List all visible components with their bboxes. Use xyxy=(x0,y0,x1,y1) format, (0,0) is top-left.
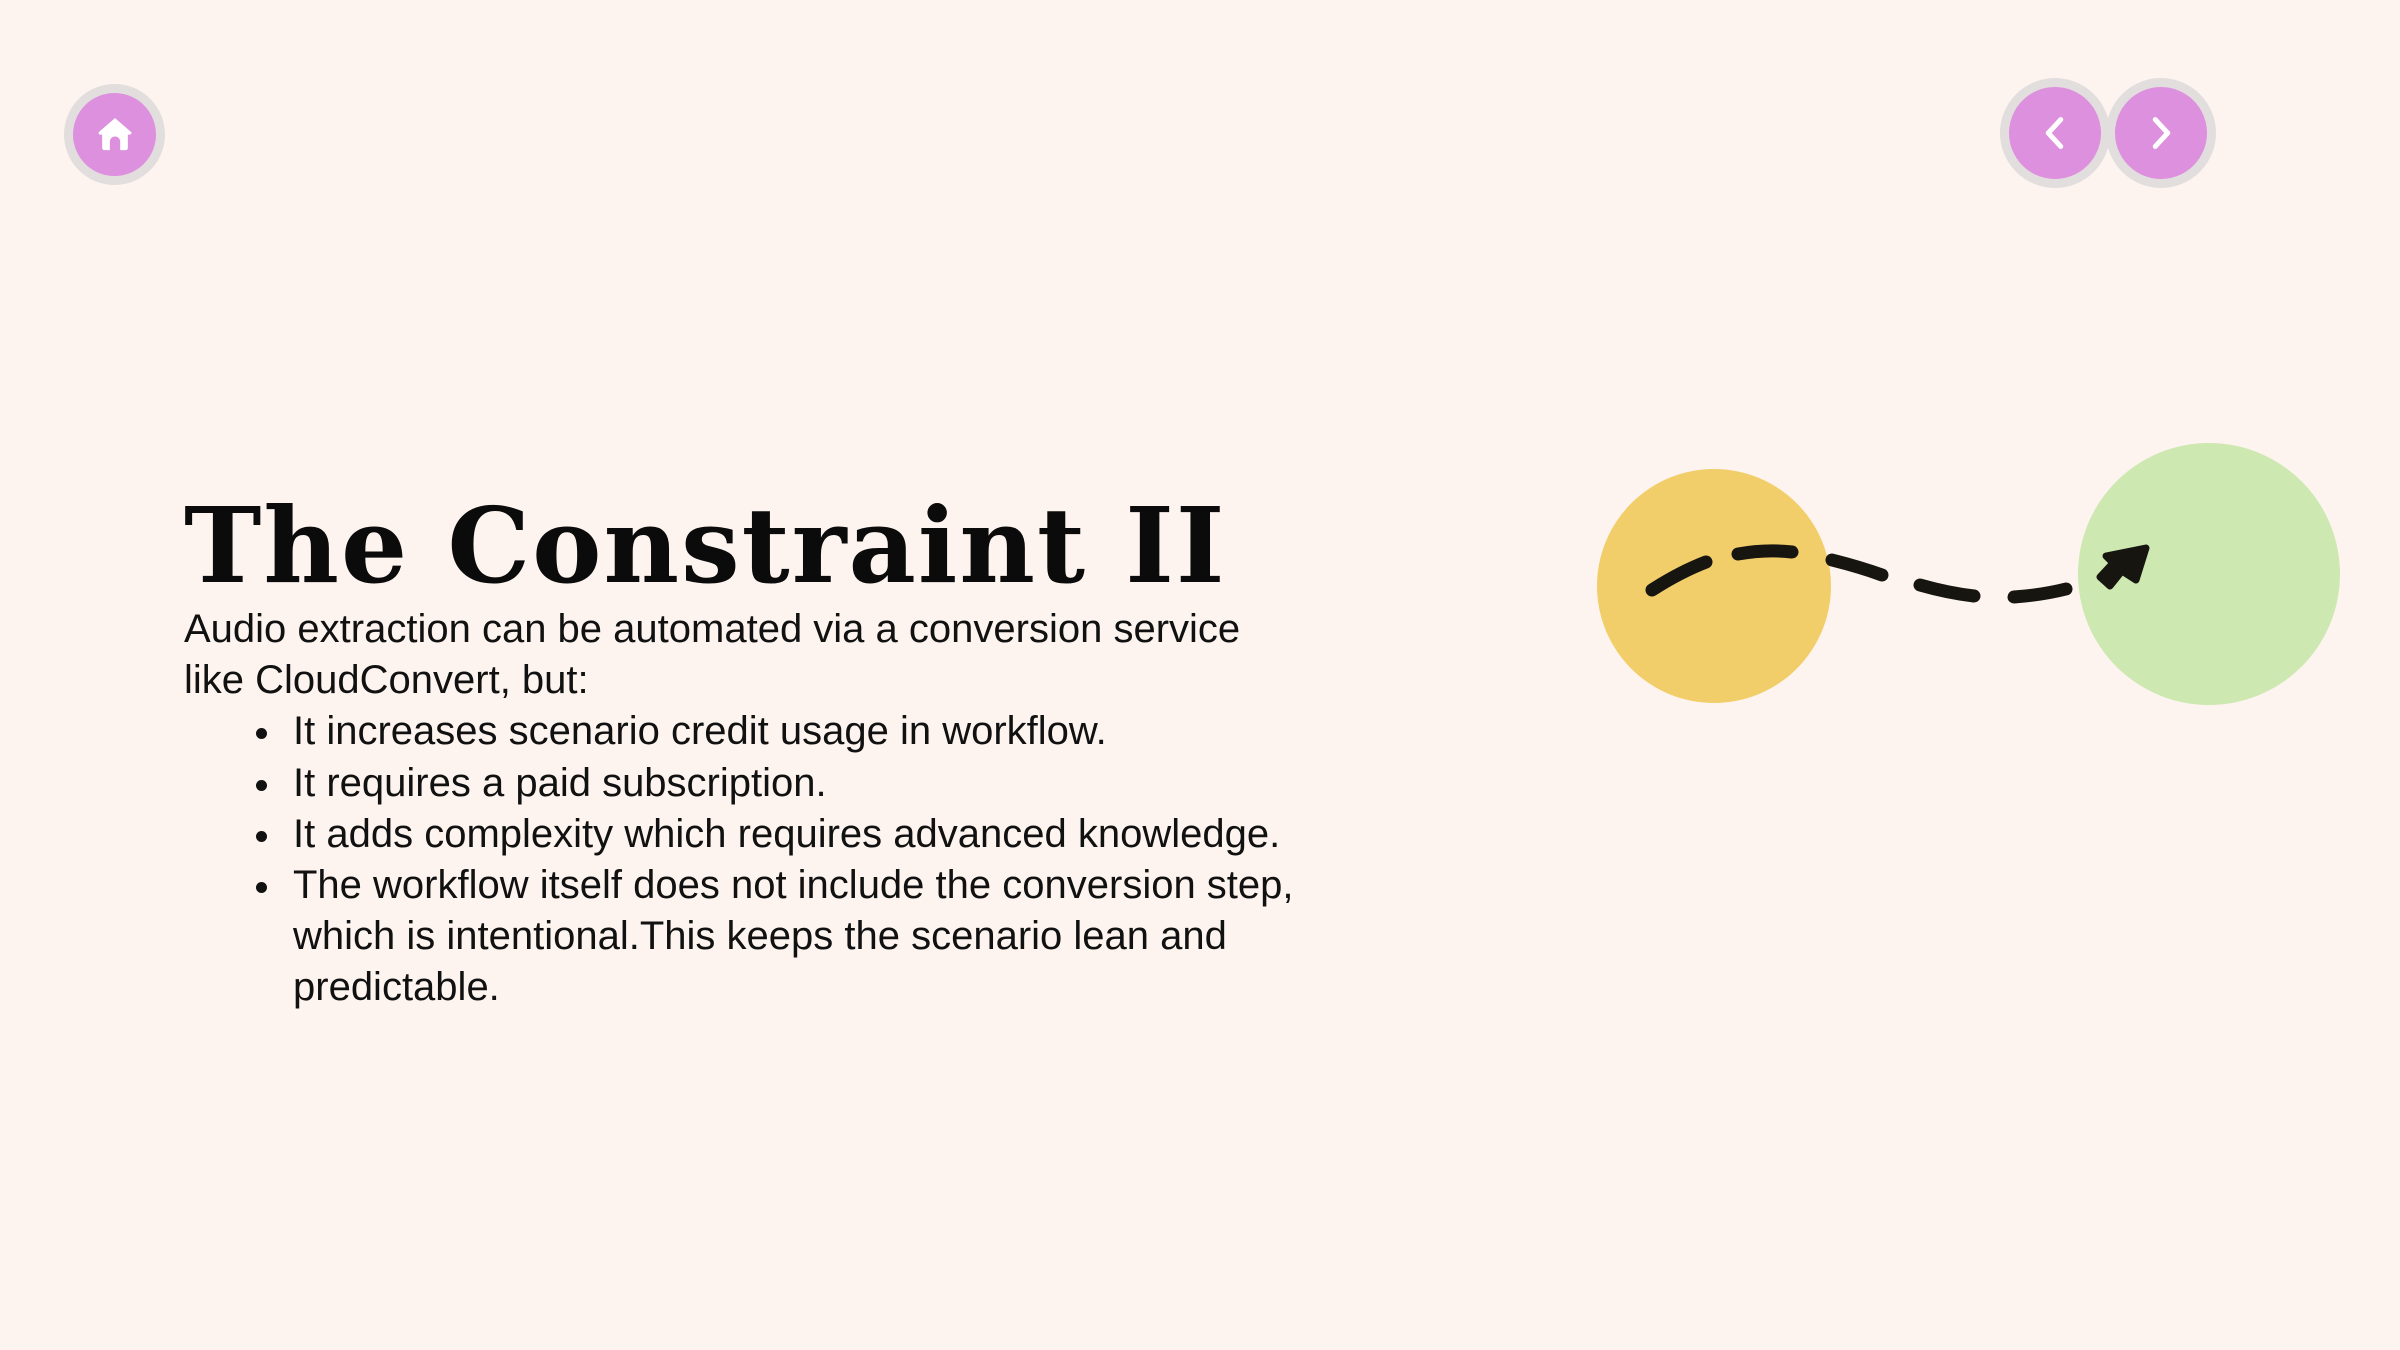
slide-title: The Constraint II xyxy=(184,494,1584,598)
list-item: It requires a paid subscription. xyxy=(256,758,1333,809)
chevron-right-icon xyxy=(2138,110,2184,156)
list-item: It increases scenario credit usage in wo… xyxy=(256,706,1333,757)
next-slide-button[interactable] xyxy=(2106,78,2216,188)
yellow-circle xyxy=(1597,469,1831,703)
list-item: The workflow itself does not include the… xyxy=(256,860,1333,1014)
slide-content: The Constraint II Audio extraction can b… xyxy=(184,494,1584,1014)
slide-bullet-list: It increases scenario credit usage in wo… xyxy=(184,706,1584,1013)
list-item: It adds complexity which requires advanc… xyxy=(256,809,1333,860)
home-button[interactable] xyxy=(64,84,165,185)
slide-lead-paragraph: Audio extraction can be automated via a … xyxy=(184,604,1264,706)
home-icon xyxy=(92,112,138,158)
previous-slide-button[interactable] xyxy=(2000,78,2110,188)
slide-canvas: The Constraint II Audio extraction can b… xyxy=(0,0,2400,1350)
chevron-left-icon xyxy=(2032,110,2078,156)
decorative-artwork xyxy=(1570,430,2370,740)
